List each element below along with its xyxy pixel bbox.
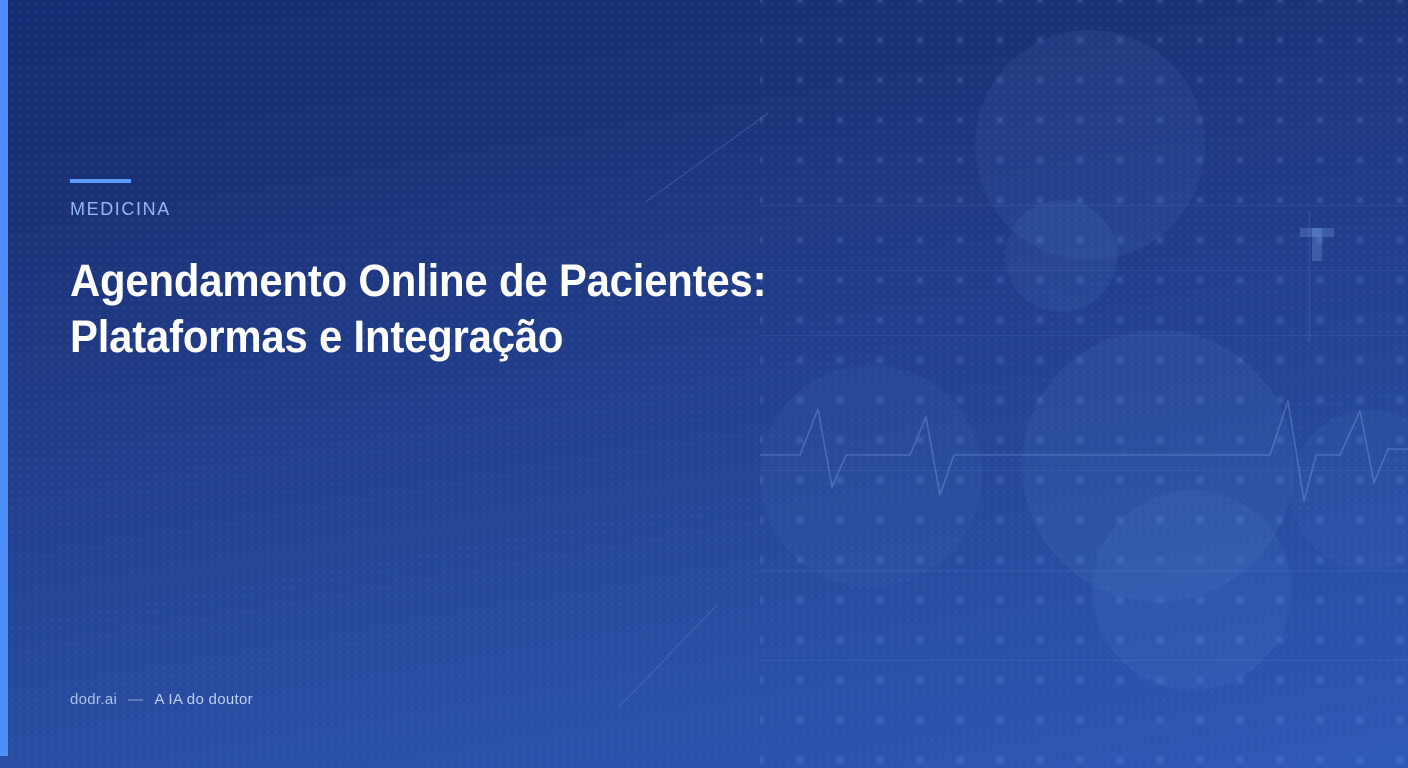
decorative-circle-6 (1290, 410, 1408, 570)
footer-tagline: A IA do doutor (154, 691, 252, 708)
page-title: Agendamento Online de Pacientes: Platafo… (70, 253, 814, 365)
medical-cross-icon (1300, 228, 1334, 237)
slide-content: MEDICINA Agendamento Online de Pacientes… (70, 0, 890, 768)
decorative-circle-1 (975, 30, 1205, 260)
page-title-line-2: Plataformas e Integração (70, 309, 814, 365)
footer-brand: dodr.ai (70, 691, 117, 708)
page-title-line-1: Agendamento Online de Pacientes: (70, 253, 814, 309)
decorative-circle-5 (1092, 490, 1292, 690)
medical-cross-icon-stem (1312, 228, 1322, 261)
category-kicker: MEDICINA (70, 199, 171, 220)
decorative-circle-2 (1005, 200, 1117, 312)
footer-separator: — (128, 691, 143, 708)
footer-credit: dodr.ai — A IA do doutor (70, 691, 253, 708)
title-slide: MEDICINA Agendamento Online de Pacientes… (0, 0, 1408, 768)
vertical-hairline (1309, 212, 1310, 342)
decorative-circle-4 (1022, 330, 1294, 602)
left-accent-bar (0, 0, 8, 756)
kicker-rule (70, 179, 131, 183)
